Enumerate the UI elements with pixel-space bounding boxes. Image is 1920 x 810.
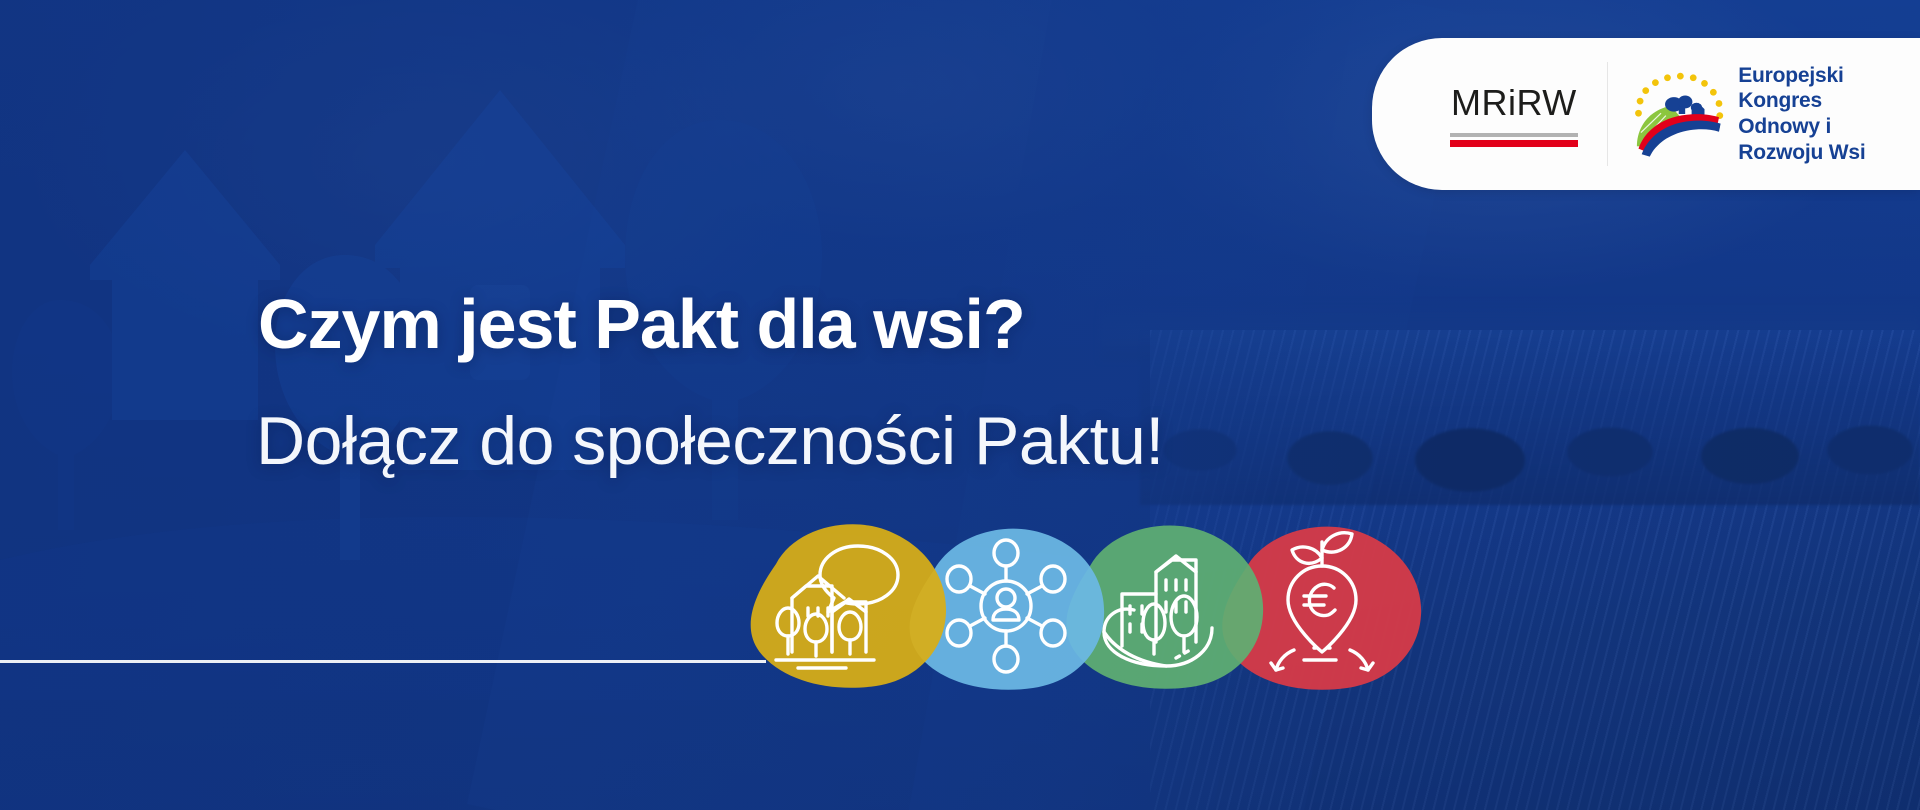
pillar-icon-row xyxy=(740,520,1520,700)
congress-name-line2: Odnowy i Rozwoju Wsi xyxy=(1738,114,1920,165)
banner-headline: Czym jest Pakt dla wsi? xyxy=(258,288,1025,361)
polish-flag-white-bar xyxy=(1450,133,1578,137)
congress-logo[interactable]: Europejski Kongres Odnowy i Rozwoju Wsi xyxy=(1624,58,1920,170)
logo-divider xyxy=(1607,62,1608,166)
congress-name: Europejski Kongres Odnowy i Rozwoju Wsi xyxy=(1738,63,1920,165)
horizontal-rule xyxy=(0,660,766,663)
pillar-village-dialogue[interactable] xyxy=(740,520,955,690)
polish-flag-red-bar xyxy=(1450,140,1578,147)
congress-name-line1: Europejski Kongres xyxy=(1738,63,1920,114)
banner-subheadline: Dołącz do społeczności Paktu! xyxy=(256,406,1164,477)
logo-card: MRiRW xyxy=(1372,38,1920,190)
mrirw-logo[interactable]: MRiRW xyxy=(1427,82,1601,147)
hero-banner: MRiRW xyxy=(0,0,1920,810)
blob-shape-yellow xyxy=(751,524,946,687)
tree-silhouette xyxy=(12,300,120,530)
mrirw-acronym: MRiRW xyxy=(1451,82,1577,124)
congress-emblem-icon xyxy=(1624,58,1733,170)
